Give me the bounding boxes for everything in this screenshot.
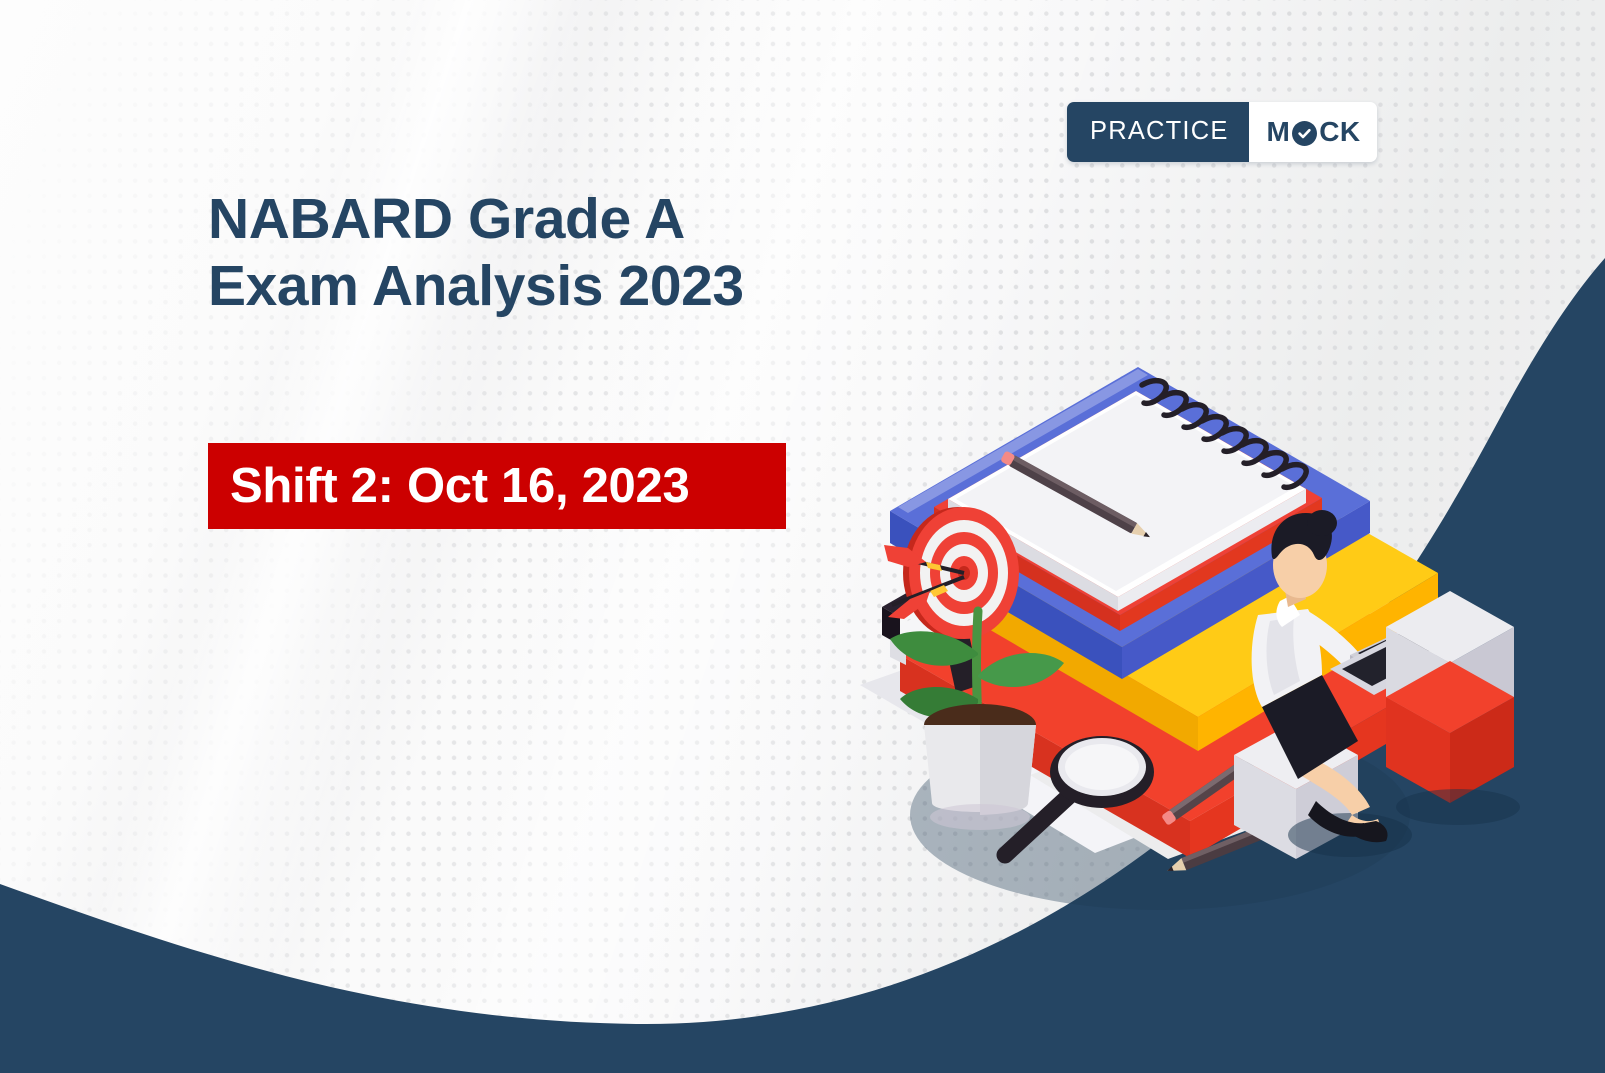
shift-date-label: Shift 2: Oct 16, 2023: [230, 462, 689, 511]
promo-banner: PRACTICE M CK NABARD Grade A Exam Analys…: [0, 0, 1605, 1073]
logo-mock-text-m: M: [1267, 118, 1291, 146]
logo-practice-block: PRACTICE: [1067, 102, 1249, 162]
check-circle-icon: [1292, 121, 1317, 146]
practicemock-logo[interactable]: PRACTICE M CK: [1067, 102, 1377, 162]
check-icon: [1297, 126, 1312, 141]
page-title: NABARD Grade A Exam Analysis 2023: [208, 186, 744, 319]
logo-practice-text: PRACTICE: [1090, 119, 1229, 145]
logo-mock-block: M CK: [1249, 102, 1377, 162]
isometric-study-desk-illustration: [830, 255, 1530, 955]
logo-mock-text-ck: CK: [1319, 118, 1360, 146]
shift-date-badge: Shift 2: Oct 16, 2023: [208, 443, 786, 529]
